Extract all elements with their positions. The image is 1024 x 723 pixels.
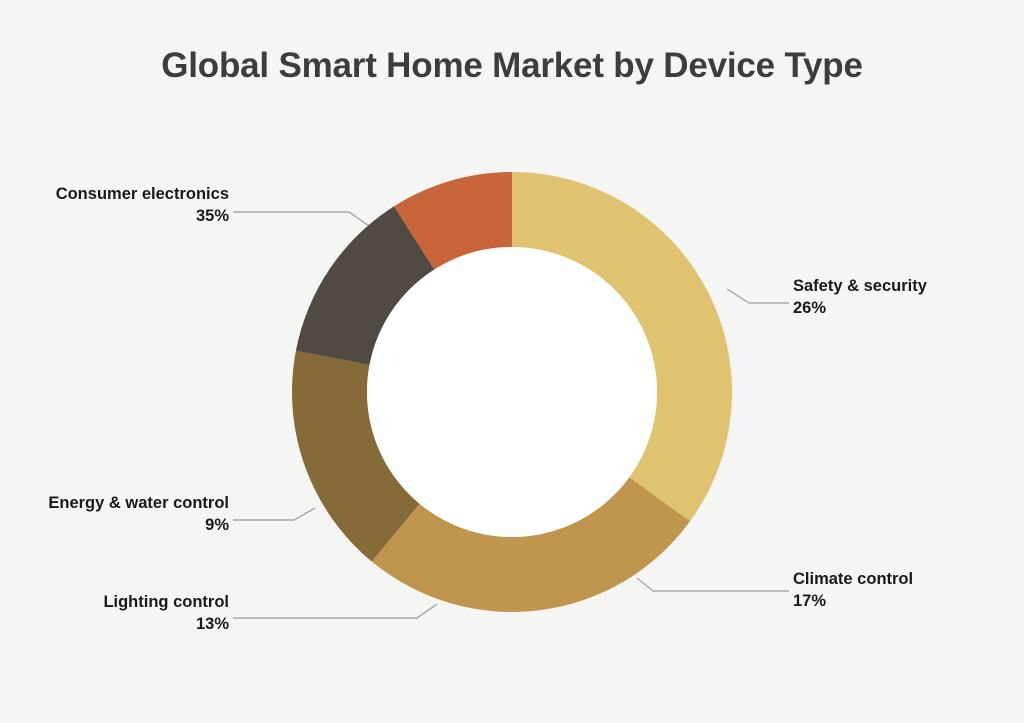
slice-label-name: Energy & water control	[48, 493, 229, 515]
leader-line-4	[233, 508, 315, 520]
slice-label-name: Lighting control	[103, 592, 229, 614]
slice-callout-safety-security: Safety & security26%	[793, 276, 927, 320]
slice-label-value: 17%	[793, 591, 913, 613]
slice-label-value: 9%	[48, 515, 229, 537]
slice-label-name: Safety & security	[793, 276, 927, 298]
donut-hole	[367, 247, 657, 537]
leader-line-2	[637, 578, 789, 591]
slice-callout-consumer-electronics: Consumer electronics35%	[56, 184, 229, 228]
donut-chart-figure: Global Smart Home Market by Device Type …	[0, 0, 1024, 723]
leader-line-3	[233, 604, 437, 618]
slice-callout-climate-control: Climate control17%	[793, 569, 913, 613]
slice-label-value: 35%	[56, 206, 229, 228]
donut-slices-group	[292, 172, 732, 612]
leader-line-1	[727, 289, 789, 303]
slice-label-value: 26%	[793, 298, 927, 320]
slice-callout-energy-water-control: Energy & water control9%	[48, 493, 229, 537]
slice-label-value: 13%	[103, 614, 229, 636]
leader-line-0	[233, 212, 372, 228]
slice-label-name: Climate control	[793, 569, 913, 591]
slice-label-name: Consumer electronics	[56, 184, 229, 206]
slice-callout-lighting-control: Lighting control13%	[103, 592, 229, 636]
